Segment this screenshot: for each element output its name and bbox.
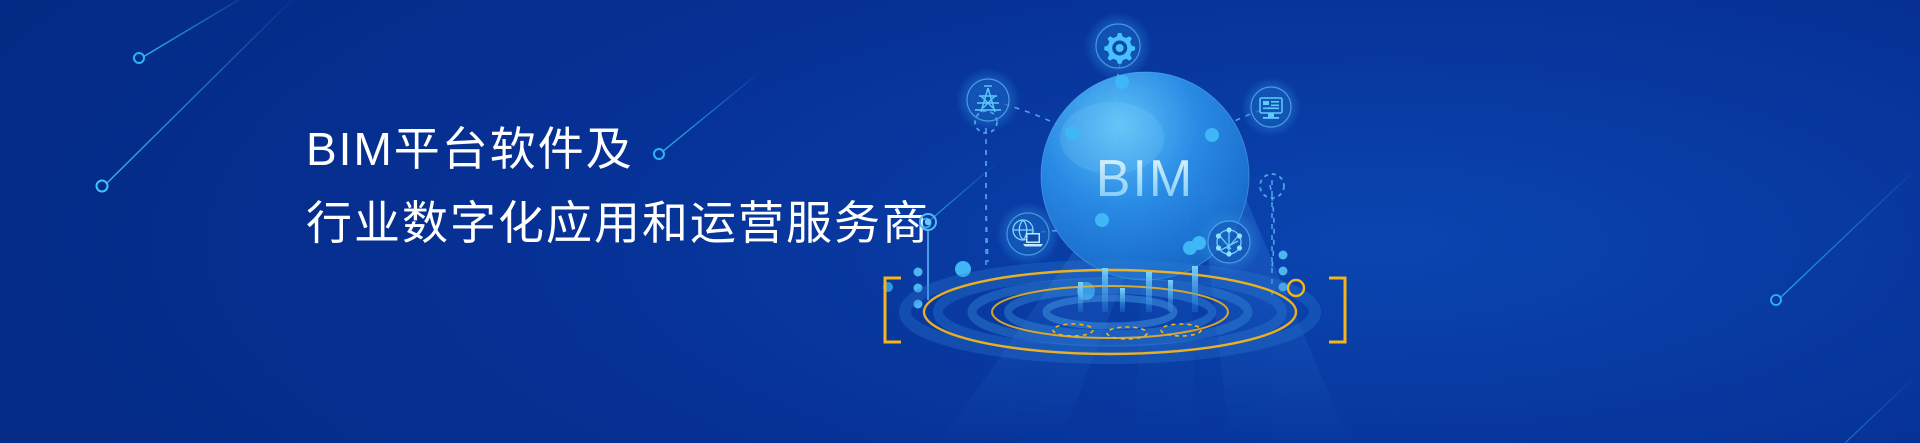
monitor-icon [1241, 77, 1301, 137]
bim-illustration: BIM [0, 0, 1920, 443]
bracket-right [1329, 278, 1345, 342]
hero-banner: BIM平台软件及 行业数字化应用和运营服务商 BIM [0, 0, 1920, 443]
sphere-label: BIM [1096, 150, 1194, 208]
globe-laptop-icon [996, 202, 1060, 266]
transmission-tower-icon [956, 68, 1020, 132]
